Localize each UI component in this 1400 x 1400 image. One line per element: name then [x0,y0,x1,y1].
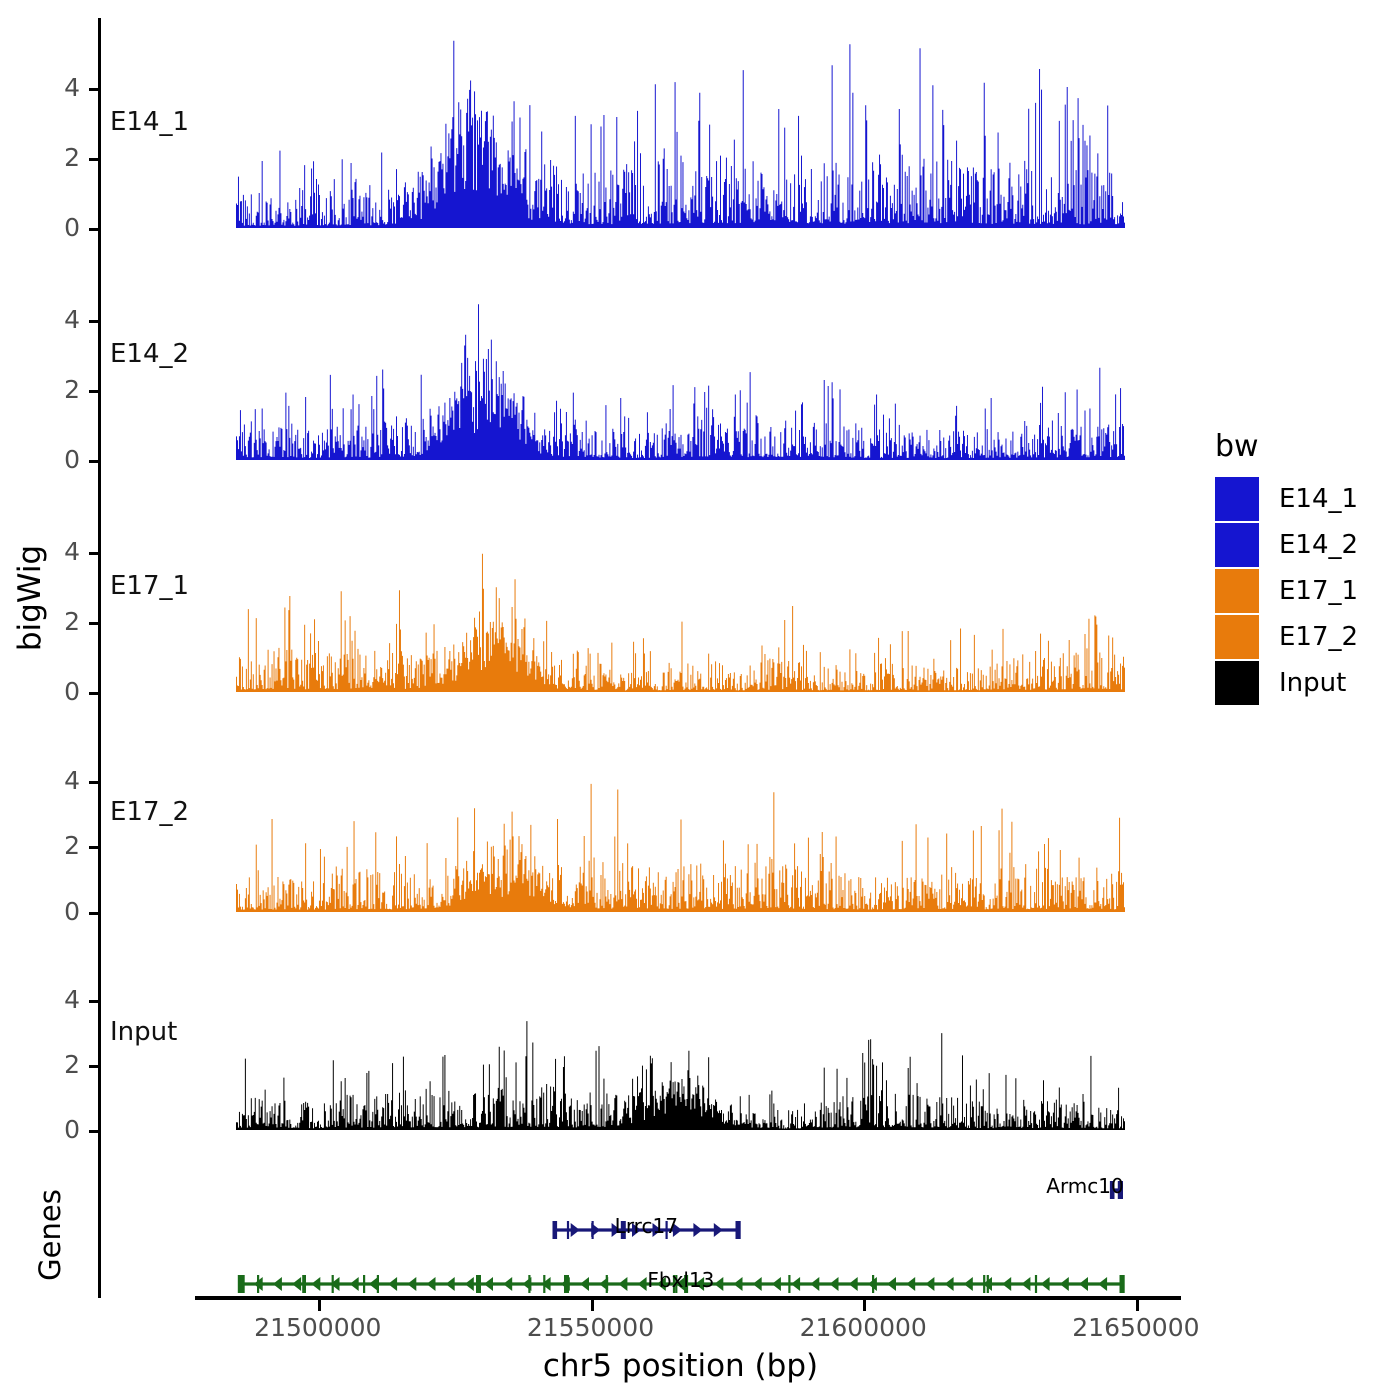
x-tick-label: 21500000 [208,1313,428,1342]
x-tick [591,1300,594,1311]
track-panel-e17_1: 024E17_1 [0,482,1135,714]
gene-label-fbxl13: Fbxl13 [647,1268,714,1292]
y-tick-label: 4 [0,73,80,102]
track-panel-e14_2: 024E14_2 [0,250,1135,482]
y-tick-label: 2 [0,607,80,636]
coverage-area-e17_1 [236,482,1125,714]
y-tick [89,846,98,849]
y-tick-label: 0 [0,677,80,706]
y-axis-line [98,482,101,714]
y-tick-label: 4 [0,305,80,334]
legend-swatch-icon [1215,477,1259,521]
legend-item-input[interactable]: Input [1215,660,1395,706]
y-axis-line [98,714,101,934]
track-label-input: Input [110,1017,177,1047]
y-tick [89,781,98,784]
y-tick [89,88,98,91]
y-tick-label: 0 [0,445,80,474]
track-panel-input: 024Input [0,934,1135,1152]
legend-items: E14_1E14_2E17_1E17_2Input [1215,476,1395,706]
y-axis-line [98,250,101,482]
legend-swatch-icon [1215,615,1259,659]
x-tick [1136,1300,1139,1311]
y-tick [89,228,98,231]
y-tick [89,1065,98,1068]
legend-item-e17_2[interactable]: E17_2 [1215,614,1395,660]
y-tick [89,1000,98,1003]
legend-swatch-icon [1215,523,1259,567]
legend-item-e14_1[interactable]: E14_1 [1215,476,1395,522]
y-tick [89,460,98,463]
x-axis-title: chr5 position (bp) [236,1348,1125,1384]
legend-item-label: E17_2 [1279,622,1358,652]
y-tick [89,692,98,695]
y-tick-label: 0 [0,897,80,926]
x-tick-label: 21650000 [1026,1313,1246,1342]
coverage-area-e17_2 [236,714,1125,934]
gene-label-lrrc17: Lrrc17 [615,1214,678,1238]
legend: bw E14_1E14_2E17_1E17_2Input [1215,432,1395,706]
y-tick-label: 2 [0,1050,80,1079]
coverage-area-e14_1 [236,18,1125,250]
legend-item-e14_2[interactable]: E14_2 [1215,522,1395,568]
y-tick-label: 2 [0,143,80,172]
legend-item-label: E17_1 [1279,576,1358,606]
genes-axis-line [98,1152,101,1298]
track-label-e17_1: E17_1 [110,571,189,601]
x-tick-label: 21600000 [753,1313,973,1342]
y-tick-label: 2 [0,375,80,404]
x-tick [318,1300,321,1311]
y-tick-label: 4 [0,766,80,795]
genes-panel: Lrrc17Fbxl13Armc10 [0,1152,1135,1298]
x-axis-line [195,1296,1181,1300]
genome-browser-figure: bigWig Genes 024E14_1024E14_2024E17_1024… [0,0,1400,1400]
legend-swatch-icon [1215,661,1259,705]
track-label-e17_2: E17_2 [110,797,189,827]
track-label-e14_2: E14_2 [110,339,189,369]
y-tick [89,622,98,625]
track-panel-e14_1: 024E14_1 [0,18,1135,250]
track-label-e14_1: E14_1 [110,107,189,137]
legend-item-label: E14_2 [1279,530,1358,560]
legend-item-e17_1[interactable]: E17_1 [1215,568,1395,614]
y-tick-label: 2 [0,831,80,860]
y-tick [89,158,98,161]
track-panel-e17_2: 024E17_2 [0,714,1135,934]
x-tick [863,1300,866,1311]
y-axis-line [98,934,101,1152]
y-tick [89,552,98,555]
x-tick-label: 21550000 [481,1313,701,1342]
genes-track-area: Lrrc17Fbxl13Armc10 [236,1152,1125,1298]
y-tick-label: 4 [0,985,80,1014]
legend-title: bw [1215,432,1395,462]
y-tick [89,1130,98,1133]
coverage-area-input [236,934,1125,1152]
legend-item-label: E14_1 [1279,484,1358,514]
y-tick [89,390,98,393]
y-tick [89,912,98,915]
y-tick [89,320,98,323]
y-tick-label: 0 [0,213,80,242]
gene-label-armc10: Armc10 [1046,1174,1123,1198]
legend-item-label: Input [1279,668,1346,698]
y-axis-line [98,18,101,250]
coverage-area-e14_2 [236,250,1125,482]
y-tick-label: 0 [0,1115,80,1144]
legend-swatch-icon [1215,569,1259,613]
y-tick-label: 4 [0,537,80,566]
